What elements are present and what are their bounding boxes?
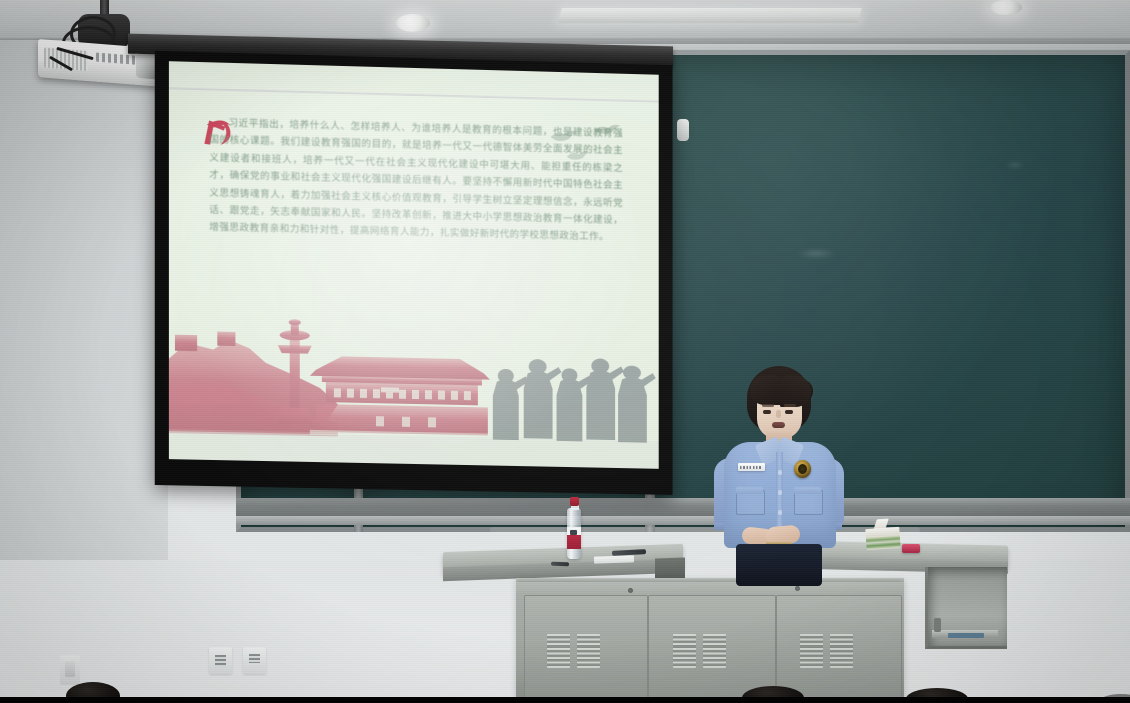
red-eraser[interactable] [902,544,920,553]
paper-slip[interactable] [594,555,634,563]
eyebrow-right [784,404,796,407]
console-vent [577,634,600,668]
blackboard-clip [677,119,689,141]
console-vent [830,634,853,668]
console-door[interactable] [776,595,902,703]
wall-outlet-slots [215,655,226,667]
shirt-button [778,510,783,515]
console-vent [673,634,696,668]
uniformed-speaker [706,366,852,586]
image-bottom-letterbox [0,697,1130,703]
console-vent [703,634,726,668]
shirt-button [778,490,783,495]
chalk-smudge [796,249,836,258]
shirt-button [778,470,783,475]
projector-control-buttons[interactable] [96,53,138,65]
projection-screen-surface: 习近平指出，培养什么人、怎样培养人、为谁培养人是教育的根本问题，也是建设教育强国… [169,61,659,469]
projection-screen: 习近平指出，培养什么人、怎样培养人、为谁培养人是教育的根本问题，也是建设教育强国… [155,51,673,495]
pocket-flap-left [736,487,763,494]
blackboard-ledge [236,498,1130,518]
hair-front-left [750,375,782,405]
eye-left [763,410,771,414]
cabinet-handle[interactable] [934,618,941,632]
procuratorate-emblem-center [798,464,807,474]
nose [776,410,781,418]
wall-data-slots [249,654,260,663]
console-screw [628,588,633,593]
console-door[interactable] [524,595,648,703]
cabinet-equipment [948,633,984,638]
saluting-soldiers [493,356,656,443]
console-vent [800,634,823,668]
hair-front-right [780,375,811,407]
bottle-label-mark [570,530,577,535]
bottle-cap [570,497,579,506]
projected-slide: 习近平指出，培养什么人、怎样培养人、为谁培养人是教育的根本问题，也是建设教育强国… [169,89,659,468]
book-pages [866,535,901,550]
great-wall-silhouette [169,331,338,437]
eyebrow-left [762,404,774,407]
pen[interactable] [551,562,569,567]
uniform-skirt [736,544,822,586]
classroom-scene: 习近平指出，培养什么人、怎样培养人、为谁培养人是教育的根本问题，也是建设教育强国… [0,0,1130,703]
green-book[interactable] [865,527,900,551]
console-screw [795,586,800,591]
recessed-ceiling-light [396,14,430,32]
chalk-rail [490,527,920,533]
mouth [772,422,785,428]
recessed-ceiling-light [990,0,1022,15]
light-switch-rocker[interactable] [65,661,75,677]
slide-artwork [169,308,659,468]
wall-outlet-plate[interactable] [209,647,232,674]
water-bottle[interactable] [566,497,582,559]
blackboard-ledge-lip [236,516,1130,525]
wall-data-plate[interactable] [243,647,266,674]
chalk-smudge [1006,162,1024,168]
slide-body-text: 习近平指出，培养什么人、怎样培养人、为谁培养人是教育的根本问题，也是建设教育强国… [209,115,623,247]
name-badge-text [740,466,762,470]
fluorescent-strip-light [558,8,862,23]
pocket-flap-right [794,487,821,494]
console-vent [547,634,570,668]
eye-right [785,410,793,414]
